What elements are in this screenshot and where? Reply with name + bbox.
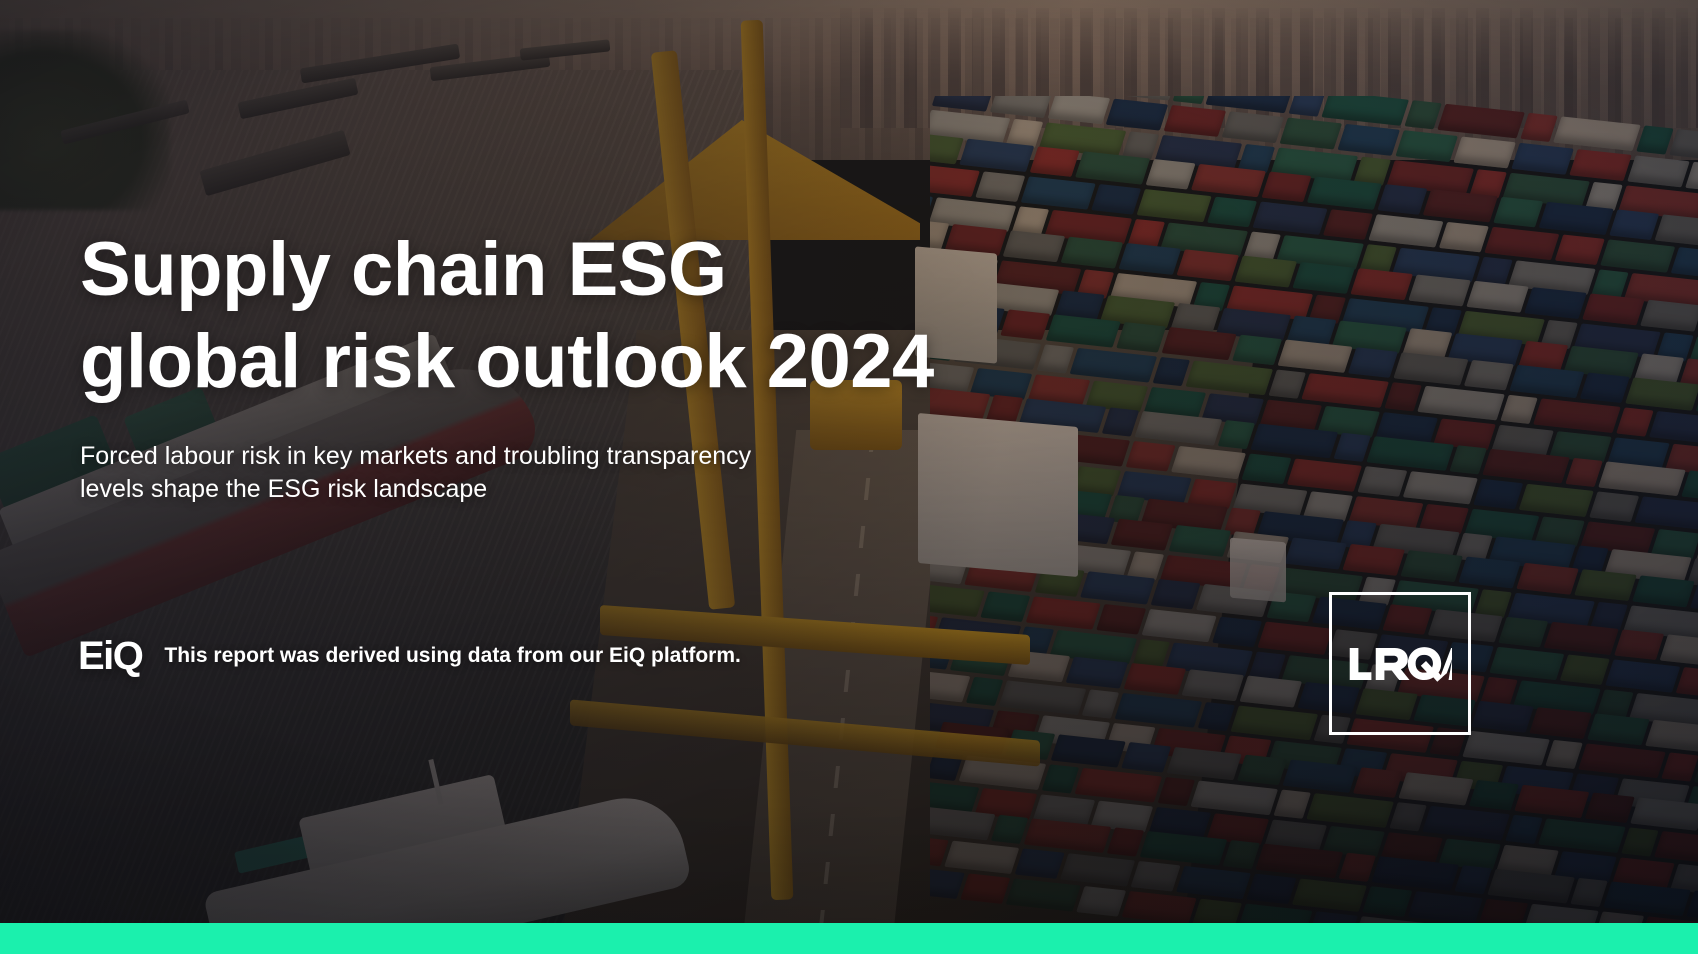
eiq-attribution: EiQ This report was derived using data f… <box>78 636 741 676</box>
eiq-attribution-text: This report was derived using data from … <box>164 643 740 669</box>
cover-content: Supply chain ESG global risk outlook 202… <box>0 0 1698 954</box>
lrqa-logo-icon <box>1348 642 1452 686</box>
accent-bar <box>0 923 1698 954</box>
report-cover-page: Supply chain ESG global risk outlook 202… <box>0 0 1698 954</box>
eiq-logo: EiQ <box>78 636 142 676</box>
page-subtitle: Forced labour risk in key markets and tr… <box>80 440 751 506</box>
page-title: Supply chain ESG global risk outlook 202… <box>80 224 934 408</box>
lrqa-logo-box <box>1329 592 1471 735</box>
